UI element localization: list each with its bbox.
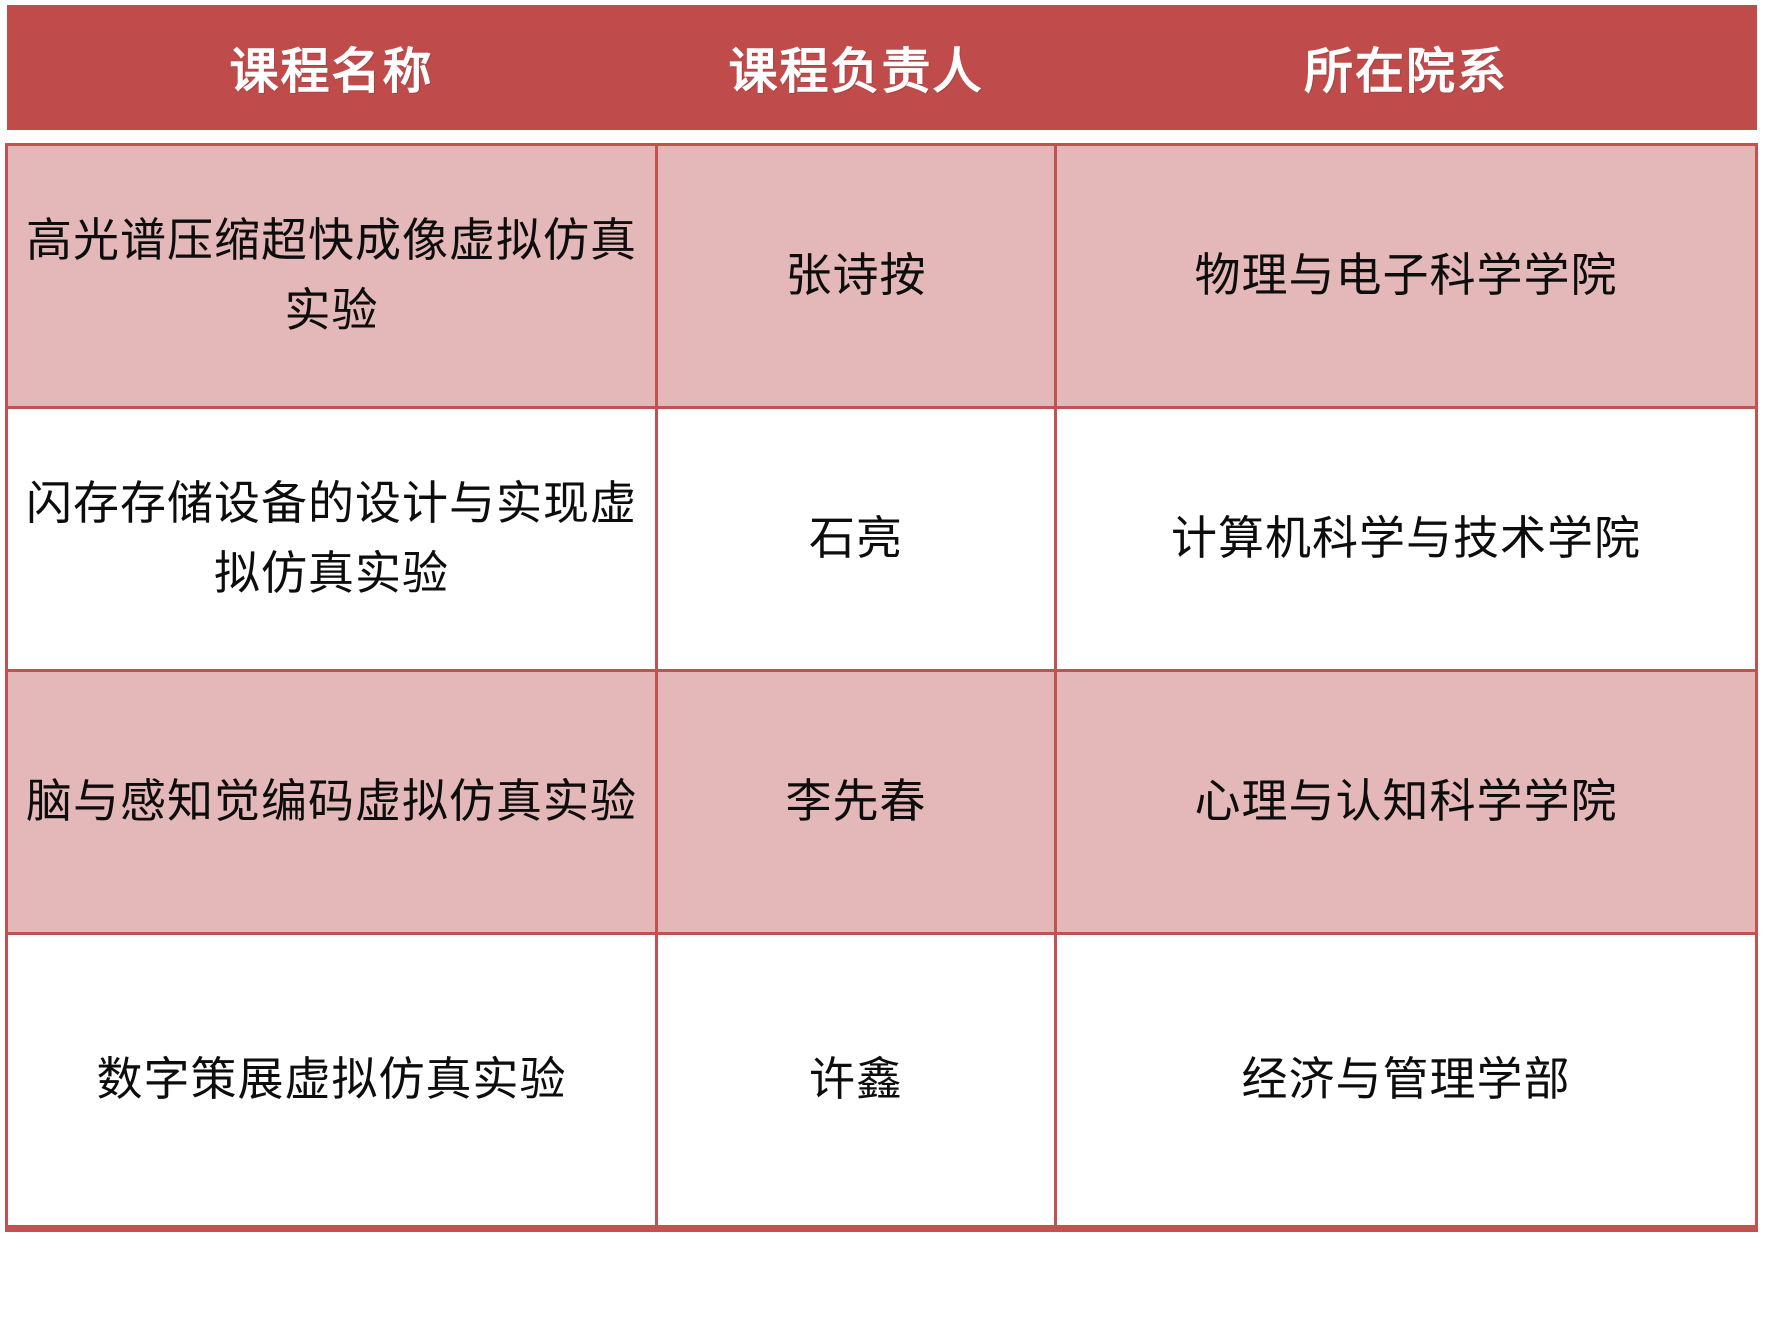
cell-course-name: 脑与感知觉编码虚拟仿真实验 bbox=[7, 671, 657, 934]
table-row: 数字策展虚拟仿真实验 许鑫 经济与管理学部 bbox=[7, 934, 1757, 1229]
course-name-text: 闪存存储设备的设计与实现虚拟仿真实验 bbox=[22, 469, 641, 609]
cell-department: 物理与电子科学学院 bbox=[1056, 145, 1757, 408]
course-lead-text: 李先春 bbox=[672, 767, 1040, 837]
cell-course-name: 高光谱压缩超快成像虚拟仿真实验 bbox=[7, 145, 657, 408]
table-row: 高光谱压缩超快成像虚拟仿真实验 张诗按 物理与电子科学学院 bbox=[7, 145, 1757, 408]
course-lead-text: 张诗按 bbox=[672, 241, 1040, 311]
header-gap-row bbox=[7, 130, 1757, 145]
department-text: 心理与认知科学学院 bbox=[1071, 767, 1741, 837]
course-name-text: 数字策展虚拟仿真实验 bbox=[22, 1045, 641, 1115]
cell-course-lead: 许鑫 bbox=[657, 934, 1056, 1229]
document-page: 课程名称 课程负责人 所在院系 高光谱压缩超快成像虚拟仿真实验 张诗按 bbox=[0, 0, 1770, 1333]
department-text: 物理与电子科学学院 bbox=[1071, 241, 1741, 311]
table-row: 脑与感知觉编码虚拟仿真实验 李先春 心理与认知科学学院 bbox=[7, 671, 1757, 934]
cell-department: 计算机科学与技术学院 bbox=[1056, 408, 1757, 671]
cell-course-lead: 石亮 bbox=[657, 408, 1056, 671]
virtual-simulation-course-table: 课程名称 课程负责人 所在院系 高光谱压缩超快成像虚拟仿真实验 张诗按 bbox=[5, 5, 1758, 1232]
course-lead-text: 许鑫 bbox=[672, 1045, 1040, 1115]
header-gap-cell-2 bbox=[657, 130, 1056, 145]
cell-course-name: 数字策展虚拟仿真实验 bbox=[7, 934, 657, 1229]
column-header-course-name: 课程名称 bbox=[7, 5, 657, 130]
department-text: 计算机科学与技术学院 bbox=[1071, 504, 1741, 574]
department-text: 经济与管理学部 bbox=[1071, 1045, 1741, 1115]
cell-course-lead: 李先春 bbox=[657, 671, 1056, 934]
cell-department: 心理与认知科学学院 bbox=[1056, 671, 1757, 934]
course-name-text: 高光谱压缩超快成像虚拟仿真实验 bbox=[22, 206, 641, 346]
table-row: 闪存存储设备的设计与实现虚拟仿真实验 石亮 计算机科学与技术学院 bbox=[7, 408, 1757, 671]
course-lead-text: 石亮 bbox=[672, 504, 1040, 574]
course-name-text: 脑与感知觉编码虚拟仿真实验 bbox=[22, 767, 641, 837]
column-header-course-lead: 课程负责人 bbox=[657, 5, 1056, 130]
column-header-department: 所在院系 bbox=[1056, 5, 1757, 130]
header-gap-cell-3 bbox=[1056, 130, 1757, 145]
header-gap-cell-1 bbox=[7, 130, 657, 145]
cell-department: 经济与管理学部 bbox=[1056, 934, 1757, 1229]
table-body: 高光谱压缩超快成像虚拟仿真实验 张诗按 物理与电子科学学院 闪存存储设备的设计与… bbox=[7, 130, 1757, 1229]
table-header: 课程名称 课程负责人 所在院系 bbox=[7, 5, 1757, 130]
cell-course-name: 闪存存储设备的设计与实现虚拟仿真实验 bbox=[7, 408, 657, 671]
cell-course-lead: 张诗按 bbox=[657, 145, 1056, 408]
table-header-row: 课程名称 课程负责人 所在院系 bbox=[7, 5, 1757, 130]
